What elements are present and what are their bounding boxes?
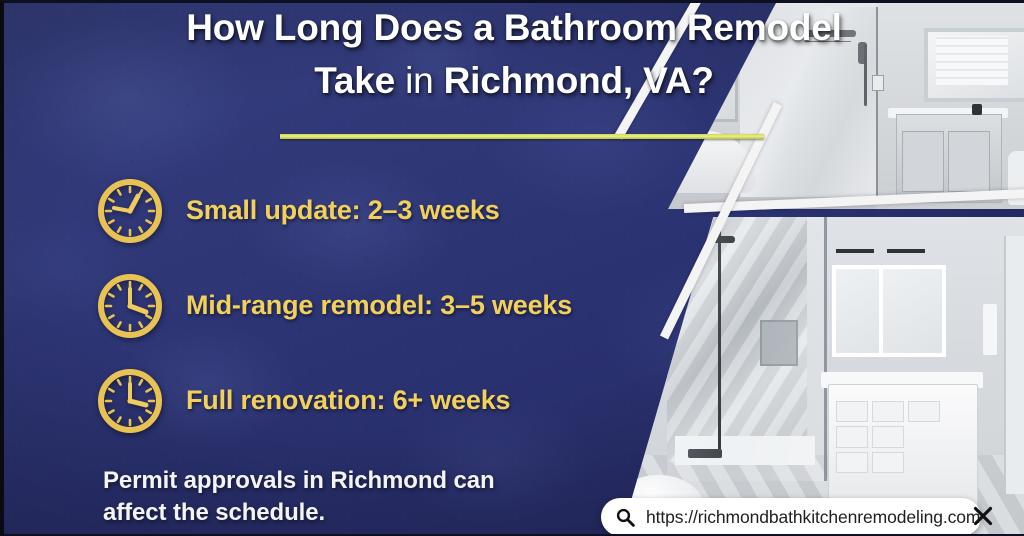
bathroom-scene-bottom xyxy=(620,217,1024,536)
timeline-list: Small update: 2–3 weeks xyxy=(96,163,572,448)
list-item: Mid-range remodel: 3–5 weeks xyxy=(96,258,572,353)
list-item-label: Mid-range remodel: 3–5 weeks xyxy=(186,290,572,321)
close-icon[interactable] xyxy=(972,505,994,527)
list-item: Small update: 2–3 weeks xyxy=(96,163,572,258)
search-icon xyxy=(615,507,635,527)
title-line-2: Take in Richmond, VA? xyxy=(64,58,964,103)
title-location: Richmond, VA? xyxy=(444,60,714,101)
list-item-label: Small update: 2–3 weeks xyxy=(186,195,500,226)
infographic-slide: How Long Does a Bathroom Remodel Take in… xyxy=(0,0,1024,536)
clock-icon xyxy=(96,367,164,435)
footnote-line-1: Permit approvals in Richmond can xyxy=(103,465,495,497)
page-title: How Long Does a Bathroom Remodel Take in… xyxy=(4,5,1024,103)
url-bar[interactable]: https://richmondbathkitchenremodeling.co… xyxy=(601,498,981,536)
url-text: https://richmondbathkitchenremodeling.co… xyxy=(646,507,980,528)
title-take: Take xyxy=(314,60,395,101)
footnote-line-2: affect the schedule. xyxy=(103,497,495,529)
footnote: Permit approvals in Richmond can affect … xyxy=(103,465,495,528)
list-item: Full renovation: 6+ weeks xyxy=(96,353,572,448)
list-item-label: Full renovation: 6+ weeks xyxy=(186,385,510,416)
title-divider xyxy=(280,134,764,139)
title-line-1: How Long Does a Bathroom Remodel xyxy=(64,5,964,50)
clock-icon xyxy=(96,272,164,340)
title-in: in xyxy=(405,60,433,101)
bathroom-photo-bottom xyxy=(620,217,1024,536)
clock-icon xyxy=(96,177,164,245)
